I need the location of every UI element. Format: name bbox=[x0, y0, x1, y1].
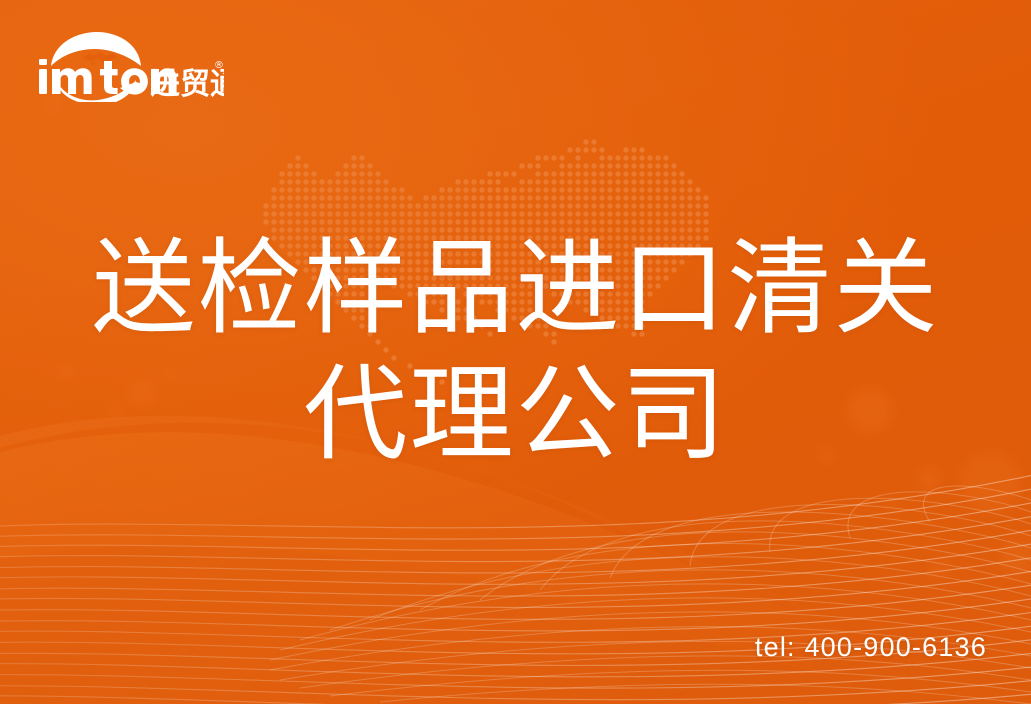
page-title: 送检样品进口清关 代理公司 bbox=[0, 226, 1031, 478]
contact-telephone: tel: 400-900-6136 bbox=[755, 632, 987, 663]
banner-canvas: 进贸通 ® 送检样品进口清关 代理公司 tel: 400-900-6136 bbox=[0, 0, 1031, 704]
globe-arc-icon bbox=[50, 32, 142, 68]
brand-logo[interactable]: 进贸通 ® bbox=[34, 28, 224, 102]
logo-chinese-text: 进贸通 bbox=[150, 67, 224, 102]
page-title-line-1: 送检样品进口清关 bbox=[0, 226, 1031, 352]
registered-trademark-icon: ® bbox=[214, 60, 224, 71]
page-title-line-2: 代理公司 bbox=[0, 352, 1031, 478]
